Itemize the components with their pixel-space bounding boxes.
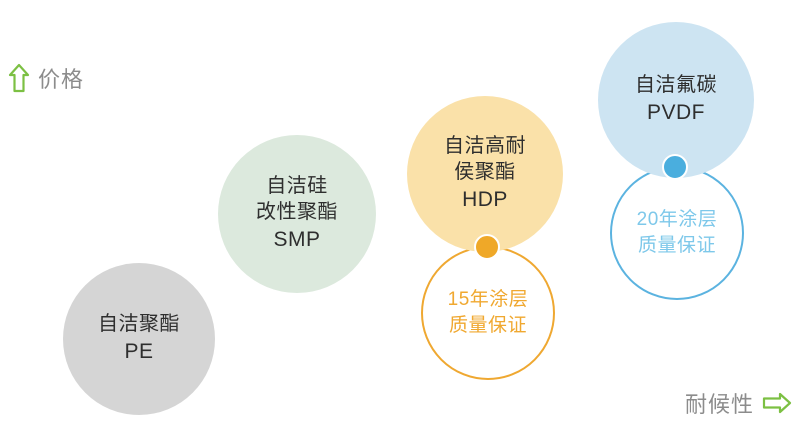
connector-dot-hdp: [474, 234, 500, 260]
warranty-ring-hdp: 15年涂层 质量保证: [421, 246, 555, 380]
weather-axis-label: 耐候性: [685, 387, 792, 419]
bubble-code: SMP: [273, 227, 320, 254]
arrow-right-icon: [762, 392, 792, 414]
bubble-pe[interactable]: 自洁聚酯 PE: [63, 263, 215, 415]
bubble-name-cn: 自洁氟碳: [635, 73, 717, 99]
bubble-hdp[interactable]: 自洁高耐 侯聚酯 HDP: [407, 96, 563, 252]
bubble-code: PE: [124, 339, 153, 366]
bubble-code: HDP: [462, 187, 508, 214]
bubble-name-cn: 自洁高耐: [444, 134, 526, 160]
bubble-name-cn-2: 侯聚酯: [454, 160, 516, 186]
bubble-name-cn: 自洁聚酯: [98, 312, 180, 338]
warranty-line-2: 质量保证: [638, 233, 716, 259]
bubble-name-cn-2: 改性聚酯: [256, 200, 338, 226]
warranty-line-1: 20年涂层: [637, 207, 718, 233]
weather-axis-text: 耐候性: [685, 387, 754, 419]
bubble-name-cn: 自洁硅: [266, 174, 328, 200]
warranty-line-1: 15年涂层: [448, 287, 529, 313]
diagram-canvas: 价格 耐候性 15年涂层 质量保证 20年涂层 质量保证 自洁聚酯 PE 自洁硅…: [0, 0, 800, 427]
warranty-line-2: 质量保证: [449, 313, 527, 339]
arrow-up-icon: [8, 63, 30, 93]
warranty-ring-pvdf: 20年涂层 质量保证: [610, 166, 744, 300]
bubble-smp[interactable]: 自洁硅 改性聚酯 SMP: [218, 135, 376, 293]
bubble-code: PVDF: [647, 100, 705, 127]
price-axis-text: 价格: [38, 62, 84, 94]
price-axis-label: 价格: [8, 62, 84, 94]
connector-dot-pvdf: [662, 154, 688, 180]
